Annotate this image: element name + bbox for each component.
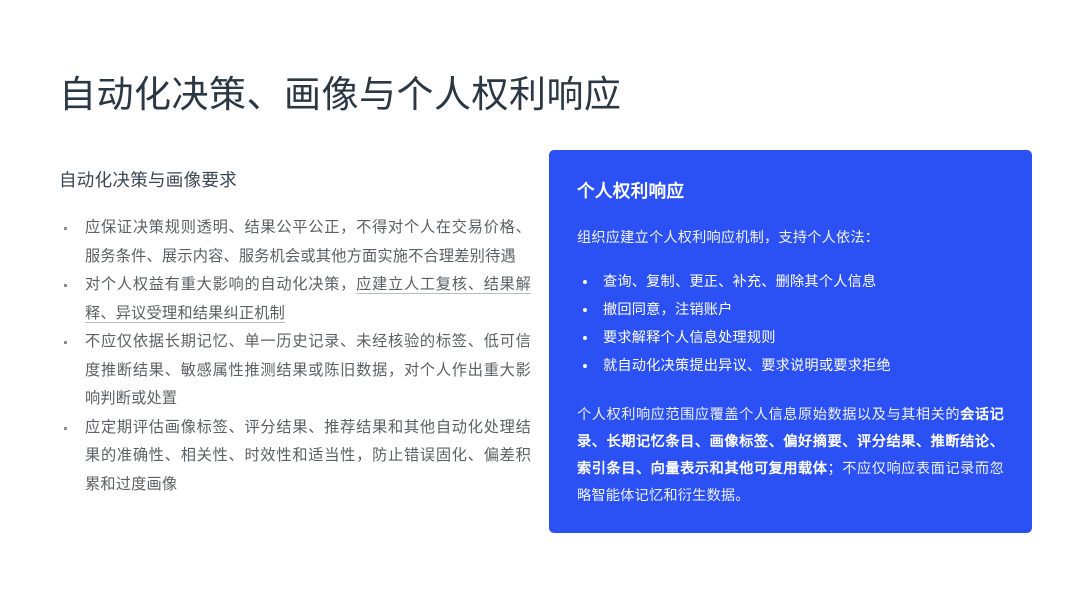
left-content-column: 自动化决策与画像要求 应保证决策规则透明、结果公平公正，不得对个人在交易价格、服… [59, 168, 531, 499]
requirements-list: 应保证决策规则透明、结果公平公正，不得对个人在交易价格、服务条件、展示内容、服务… [59, 214, 531, 499]
bullet-text: 要求解释个人信息处理规则 [603, 330, 776, 346]
list-item: 应定期评估画像标签、评分结果、推荐结果和其他自动化处理结果的准确性、相关性、时效… [59, 414, 531, 500]
bullet-text: 应保证决策规则透明、结果公平公正，不得对个人在交易价格、服务条件、展示内容、服务… [85, 219, 531, 265]
panel-heading: 个人权利响应 [577, 178, 1004, 204]
bullet-text: 撤回同意，注销账户 [603, 302, 733, 318]
list-item: 不应仅依据长期记忆、单一历史记录、未经核验的标签、低可信度推断结果、敏感属性推测… [59, 328, 531, 414]
bullet-text: 查询、复制、更正、补充、删除其个人信息 [603, 274, 876, 290]
left-section-heading: 自动化决策与画像要求 [59, 168, 531, 192]
list-item: 要求解释个人信息处理规则 [577, 324, 1004, 352]
rights-list: 查询、复制、更正、补充、删除其个人信息 撤回同意，注销账户 要求解释个人信息处理… [577, 268, 1004, 380]
slide-canvas: 自动化决策、画像与个人权利响应 自动化决策与画像要求 应保证决策规则透明、结果公… [0, 0, 1080, 608]
bullet-text-lead: 对个人权益有重大影响的自动化决策， [85, 276, 356, 293]
panel-note-lead: 个人权利响应范围应覆盖个人信息原始数据以及与其相关的 [577, 407, 960, 423]
rights-response-panel: 个人权利响应 组织应建立个人权利响应机制，支持个人依法： 查询、复制、更正、补充… [549, 150, 1032, 533]
page-title: 自动化决策、画像与个人权利响应 [59, 70, 622, 120]
list-item: 就自动化决策提出异议、要求说明或要求拒绝 [577, 352, 1004, 380]
bullet-text: 应定期评估画像标签、评分结果、推荐结果和其他自动化处理结果的准确性、相关性、时效… [85, 419, 531, 493]
list-item: 撤回同意，注销账户 [577, 296, 1004, 324]
panel-note: 个人权利响应范围应覆盖个人信息原始数据以及与其相关的会话记录、长期记忆条目、画像… [577, 402, 1004, 510]
panel-intro-text: 组织应建立个人权利响应机制，支持个人依法： [577, 226, 1004, 250]
list-item: 查询、复制、更正、补充、删除其个人信息 [577, 268, 1004, 296]
bullet-text: 就自动化决策提出异议、要求说明或要求拒绝 [603, 358, 891, 374]
list-item: 应保证决策规则透明、结果公平公正，不得对个人在交易价格、服务条件、展示内容、服务… [59, 214, 531, 271]
bullet-text: 不应仅依据长期记忆、单一历史记录、未经核验的标签、低可信度推断结果、敏感属性推测… [85, 333, 531, 407]
list-item: 对个人权益有重大影响的自动化决策，应建立人工复核、结果解释、异议受理和结果纠正机… [59, 271, 531, 328]
